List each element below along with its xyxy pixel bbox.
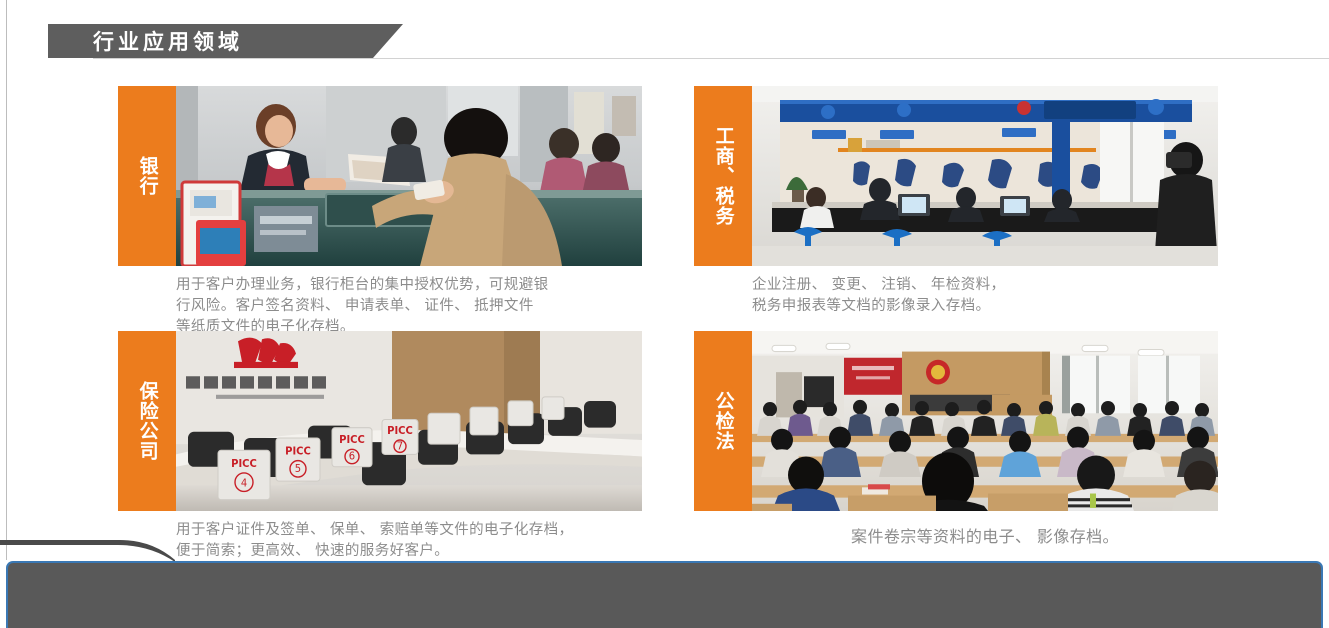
card-tab-label: 工商、税务 — [712, 126, 733, 226]
card-tab-insurance[interactable]: 保险公司 — [118, 331, 176, 511]
application-card-judicial[interactable]: 公检法 — [694, 331, 1218, 548]
svg-text:PICC: PICC — [231, 459, 257, 470]
bank-counter-photo — [176, 86, 642, 266]
card-tab-judicial[interactable]: 公检法 — [694, 331, 752, 511]
card-tab-bank[interactable]: 银行 — [118, 86, 176, 266]
svg-text:PICC: PICC — [387, 426, 413, 437]
courtroom-hearing-photo — [752, 331, 1218, 511]
svg-text:7: 7 — [397, 441, 403, 452]
card-media: 公检法 — [694, 331, 1218, 511]
left-edge-rule — [6, 0, 7, 560]
card-caption-tax: 企业注册、 变更、 注销、 年检资料， 税务申报表等文档的影像录入存档。 — [752, 275, 1218, 317]
card-tab-label: 公检法 — [712, 391, 733, 451]
card-tab-label: 银行 — [136, 156, 157, 196]
card-media: 银行 — [118, 86, 642, 266]
footer-panel — [6, 561, 1323, 628]
svg-text:5: 5 — [295, 464, 301, 475]
card-caption-judicial: 案件卷宗等资料的电子、 影像存档。 — [752, 525, 1218, 548]
card-tab-tax[interactable]: 工商、税务 — [694, 86, 752, 266]
picc-insurance-office-photo: PICC PICC PICC PICC 4 5 6 — [176, 331, 642, 511]
card-caption-insurance: 用于客户证件及签单、 保单、 索赔单等文件的电子化存档， 便于简索；更高效、 快… — [176, 520, 642, 562]
svg-text:4: 4 — [241, 478, 247, 489]
footer-swoosh-decoration — [0, 536, 175, 562]
page-title: 行业应用领域 — [93, 26, 243, 56]
application-card-bank[interactable]: 银行 — [118, 86, 642, 338]
header-divider-rule — [93, 58, 1329, 59]
application-card-insurance[interactable]: 保险公司 — [118, 331, 642, 562]
svg-text:PICC: PICC — [285, 446, 311, 457]
svg-text:PICC: PICC — [339, 435, 365, 446]
card-tab-label: 保险公司 — [136, 381, 157, 461]
card-caption-bank: 用于客户办理业务，银行柜台的集中授权优势，可规避银 行风险。客户签名资料、 申请… — [176, 275, 642, 338]
section-header-banner: 行业应用领域 — [48, 24, 373, 58]
application-card-tax[interactable]: 工商、税务 — [694, 86, 1218, 317]
section-header-slant-decoration — [373, 24, 403, 58]
tax-service-hall-photo — [752, 86, 1218, 266]
svg-text:6: 6 — [349, 451, 355, 462]
card-media: 工商、税务 — [694, 86, 1218, 266]
card-media: 保险公司 — [118, 331, 642, 511]
